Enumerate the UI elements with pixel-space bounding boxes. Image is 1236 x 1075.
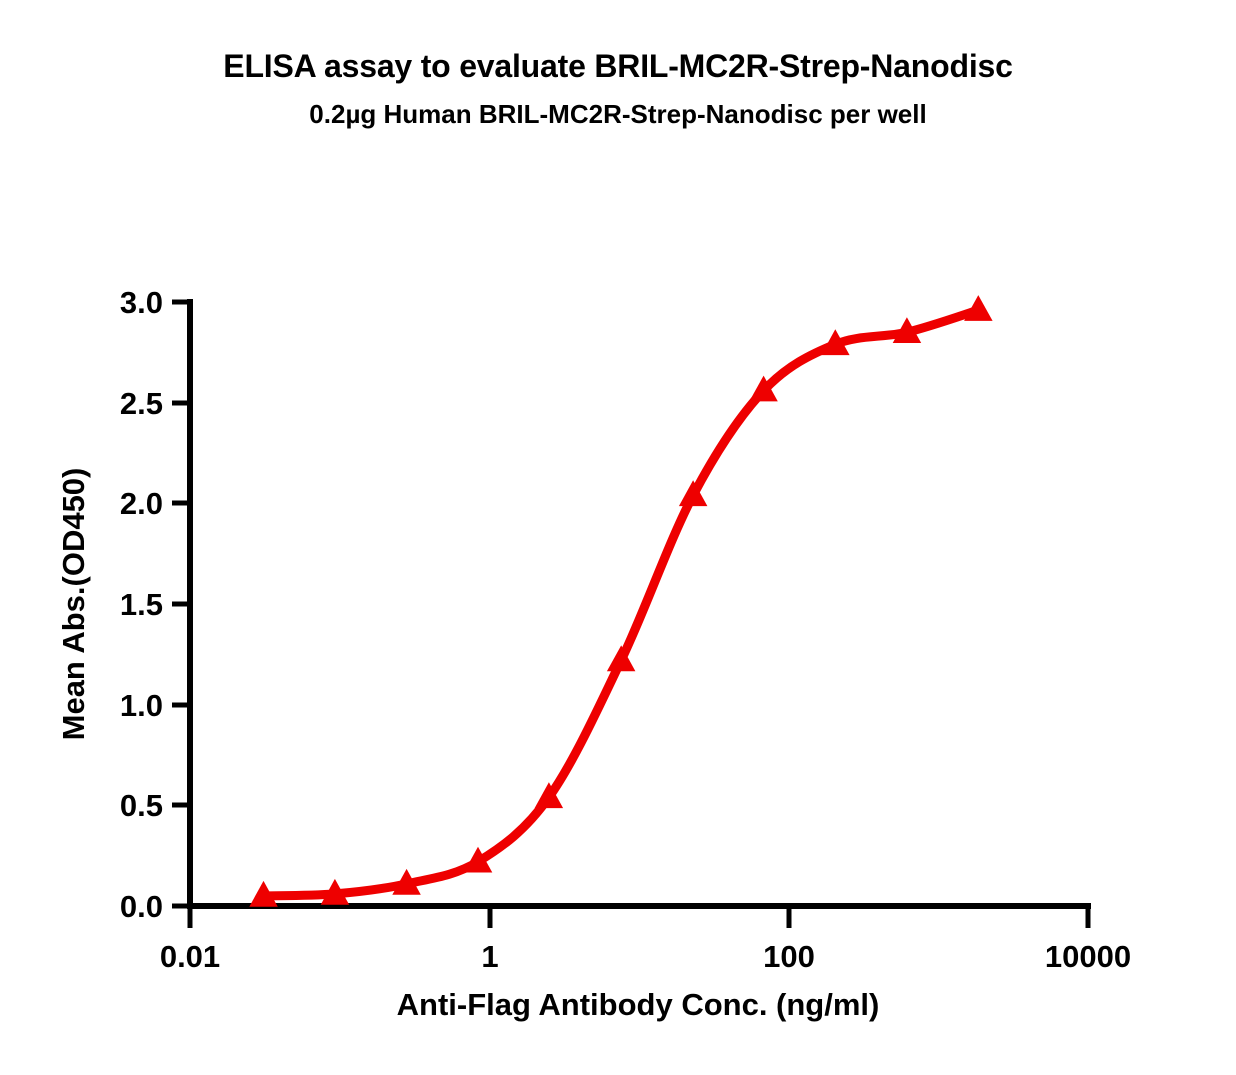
- series-markers: [249, 295, 992, 907]
- y-tick-label-4: 2.0: [120, 486, 163, 521]
- y-tick-label-6: 3.0: [120, 285, 163, 320]
- x-tick-label-2: 100: [763, 939, 815, 974]
- y-tick-label-5: 2.5: [120, 386, 163, 421]
- x-tick-marks: [190, 906, 1088, 928]
- y-axis-title: Mean Abs.(OD450): [56, 468, 91, 741]
- x-axis-title: Anti-Flag Antibody Conc. (ng/ml): [397, 987, 880, 1022]
- data-series-group: [249, 295, 992, 907]
- y-tick-label-1: 0.5: [120, 788, 163, 823]
- data-point-marker: [964, 295, 993, 321]
- chart-figure: ELISA assay to evaluate BRIL-MC2R-Strep-…: [0, 0, 1236, 1075]
- y-tick-label-0: 0.0: [120, 889, 163, 924]
- x-tick-label-1: 1: [481, 939, 498, 974]
- y-tick-label-2: 1.0: [120, 688, 163, 723]
- x-tick-label-0: 0.01: [160, 939, 220, 974]
- x-tick-label-3: 10000: [1045, 939, 1131, 974]
- series-curve: [264, 310, 979, 896]
- y-tick-label-3: 1.5: [120, 587, 163, 622]
- plot-area: 0.0 0.5 1.0 1.5 2.0 2.5 3.0 0.01 1 100 1…: [0, 0, 1236, 1075]
